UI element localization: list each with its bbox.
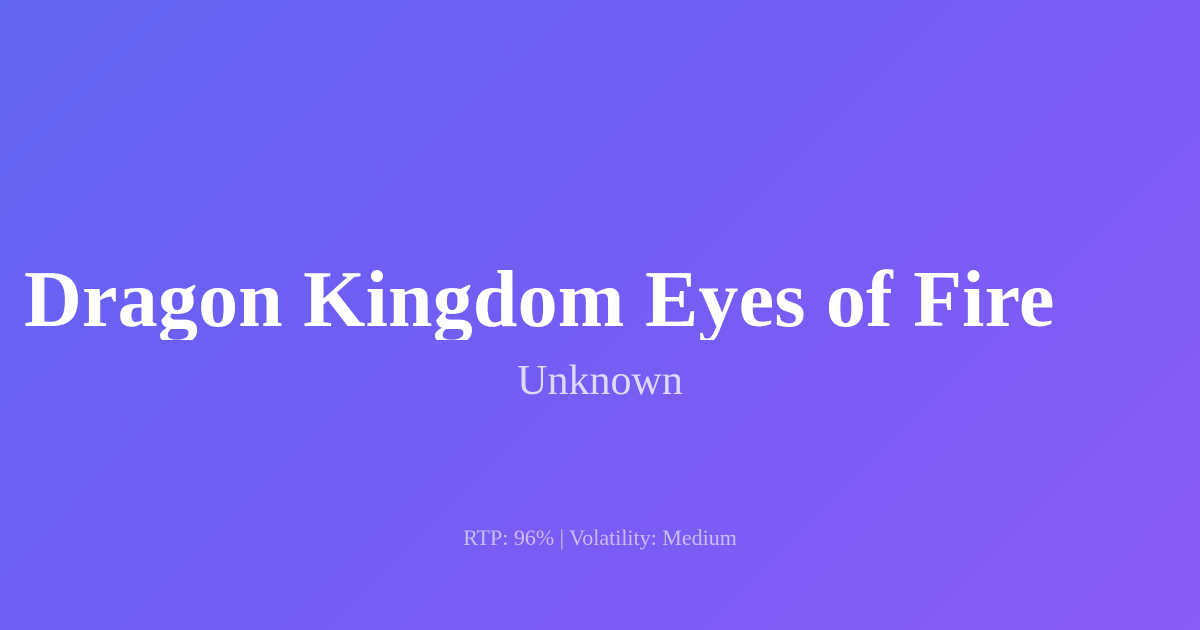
game-meta-line: RTP: 96% | Volatility: Medium <box>0 525 1200 551</box>
provider-container: Unknown <box>0 358 1200 404</box>
title-container: Dragon Kingdom Eyes of Fire <box>0 0 1200 340</box>
game-og-card: Dragon Kingdom Eyes of Fire Unknown RTP:… <box>0 0 1200 630</box>
game-provider: Unknown <box>0 358 1200 404</box>
meta-container: RTP: 96% | Volatility: Medium <box>0 525 1200 551</box>
page-title: Dragon Kingdom Eyes of Fire <box>24 260 1055 340</box>
